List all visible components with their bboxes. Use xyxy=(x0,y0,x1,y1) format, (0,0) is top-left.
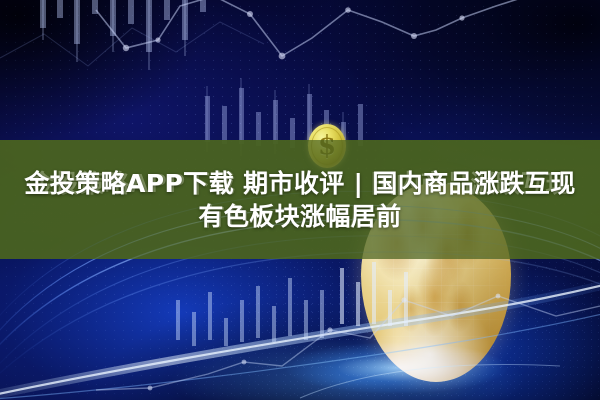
news-banner-image: 金投策略APP下载 期市收评 | 国内商品涨跌互现 有色板块涨幅居前 $ xyxy=(0,0,600,400)
headline-line-1-top: 金投策略APP下载 期市收评 | 国内商品涨跌互现 xyxy=(24,168,575,199)
headline-line-2-top: 有色板块涨幅居前 xyxy=(198,201,401,232)
headline-block-top: 金投策略APP下载 期市收评 | 国内商品涨跌互现 有色板块涨幅居前 xyxy=(0,140,600,259)
